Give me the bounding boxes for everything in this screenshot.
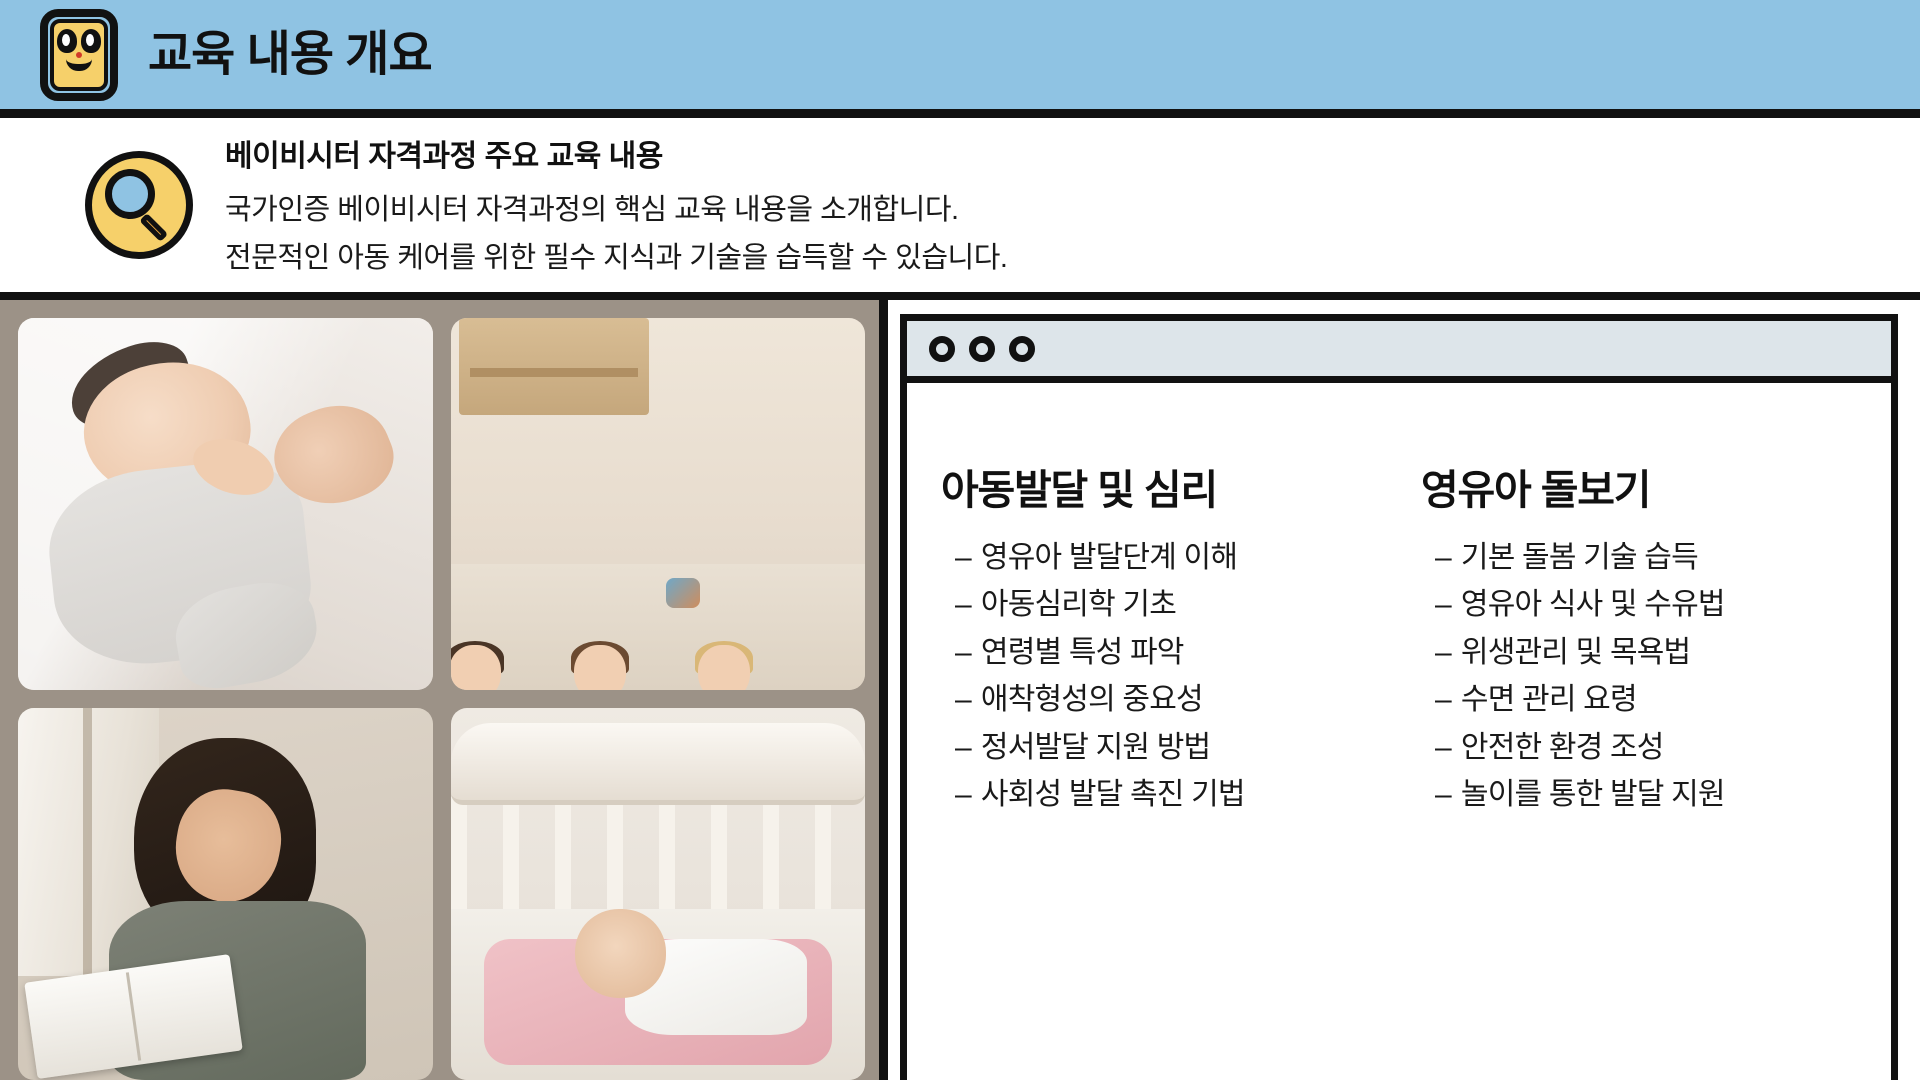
list-item-label: 사회성 발달 촉진 기법 bbox=[981, 771, 1245, 818]
list-item-label: 영유아 발달단계 이해 bbox=[981, 534, 1237, 581]
photo-toddlers-playing bbox=[451, 318, 866, 690]
bullet-dash-icon: – bbox=[1435, 629, 1451, 676]
bullet-dash-icon: – bbox=[1435, 724, 1451, 771]
bullet-dash-icon: – bbox=[1435, 581, 1451, 628]
bullet-dash-icon: – bbox=[1435, 771, 1451, 818]
window-dot-3-icon[interactable] bbox=[1009, 336, 1035, 362]
photo-baby-lying-down bbox=[18, 318, 433, 690]
list-item-label: 위생관리 및 목욕법 bbox=[1461, 629, 1690, 676]
photo-collage bbox=[0, 300, 888, 1080]
bullet-dash-icon: – bbox=[955, 581, 971, 628]
list-item-label: 수면 관리 요령 bbox=[1461, 676, 1637, 723]
list-item-label: 안전한 환경 조성 bbox=[1461, 724, 1664, 771]
body-area: 아동발달 및 심리 – 영유아 발달단계 이해 – 아동심리학 기초 bbox=[0, 300, 1920, 1080]
list-item: – 수면 관리 요령 bbox=[1421, 676, 1891, 723]
list-item: – 기본 돌봄 기술 습득 bbox=[1421, 534, 1891, 581]
list-item-label: 정서발달 지원 방법 bbox=[981, 724, 1210, 771]
page-title: 교육 내용 개요 bbox=[148, 31, 432, 79]
bullet-dash-icon: – bbox=[955, 629, 971, 676]
window-content: 아동발달 및 심리 – 영유아 발달단계 이해 – 아동심리학 기초 bbox=[907, 383, 1891, 1080]
list-item: – 정서발달 지원 방법 bbox=[941, 724, 1399, 771]
column-infant-care: 영유아 돌보기 – 기본 돌봄 기술 습득 – 영유아 식사 및 수유법 bbox=[1399, 469, 1891, 1080]
magnifier-icon bbox=[85, 151, 193, 259]
window-dot-1-icon[interactable] bbox=[929, 336, 955, 362]
intro-title: 베이비시터 자격과정 주요 교육 내용 bbox=[225, 131, 1007, 175]
content-card-wrapper: 아동발달 및 심리 – 영유아 발달단계 이해 – 아동심리학 기초 bbox=[888, 300, 1920, 1080]
list-item-label: 영유아 식사 및 수유법 bbox=[1461, 581, 1725, 628]
list-item: – 아동심리학 기초 bbox=[941, 581, 1399, 628]
window-titlebar bbox=[907, 321, 1891, 383]
baby-face-icon bbox=[40, 9, 118, 101]
bullet-dash-icon: – bbox=[955, 724, 971, 771]
bullet-dash-icon: – bbox=[955, 771, 971, 818]
photo-woman-reading-book bbox=[18, 708, 433, 1080]
list-item: – 안전한 환경 조성 bbox=[1421, 724, 1891, 771]
bullet-dash-icon: – bbox=[1435, 534, 1451, 581]
bullet-dash-icon: – bbox=[955, 534, 971, 581]
list-item: – 사회성 발달 촉진 기법 bbox=[941, 771, 1399, 818]
list-item-label: 아동심리학 기초 bbox=[981, 581, 1176, 628]
list-item-label: 연령별 특성 파악 bbox=[981, 629, 1184, 676]
list-item: – 놀이를 통한 발달 지원 bbox=[1421, 771, 1891, 818]
intro-line-2: 전문적인 아동 케어를 위한 필수 지식과 기술을 습득할 수 있습니다. bbox=[225, 237, 1007, 279]
list-infant-care: – 기본 돌봄 기술 습득 – 영유아 식사 및 수유법 – 위생관리 및 목욕… bbox=[1421, 534, 1891, 818]
list-item: – 위생관리 및 목욕법 bbox=[1421, 629, 1891, 676]
list-item-label: 애착형성의 중요성 bbox=[981, 676, 1203, 723]
bullet-dash-icon: – bbox=[955, 676, 971, 723]
slide-root: 교육 내용 개요 베이비시터 자격과정 주요 교육 내용 국가인증 베이비시터 … bbox=[0, 0, 1920, 1080]
list-item-label: 놀이를 통한 발달 지원 bbox=[1461, 771, 1725, 818]
list-child-development: – 영유아 발달단계 이해 – 아동심리학 기초 – 연령별 특성 파악 bbox=[941, 534, 1399, 818]
list-item: – 애착형성의 중요성 bbox=[941, 676, 1399, 723]
intro-line-1: 국가인증 베이비시터 자격과정의 핵심 교육 내용을 소개합니다. bbox=[225, 189, 1007, 231]
list-item: – 영유아 식사 및 수유법 bbox=[1421, 581, 1891, 628]
list-item-label: 기본 돌봄 기술 습득 bbox=[1461, 534, 1698, 581]
bullet-dash-icon: – bbox=[1435, 676, 1451, 723]
intro-section: 베이비시터 자격과정 주요 교육 내용 국가인증 베이비시터 자격과정의 핵심 … bbox=[0, 118, 1920, 300]
photo-baby-sleeping-in-crib bbox=[451, 708, 866, 1080]
column-title-infant-care: 영유아 돌보기 bbox=[1421, 469, 1891, 512]
list-item: – 연령별 특성 파악 bbox=[941, 629, 1399, 676]
column-title-child-development: 아동발달 및 심리 bbox=[941, 469, 1399, 512]
browser-window: 아동발달 및 심리 – 영유아 발달단계 이해 – 아동심리학 기초 bbox=[900, 314, 1898, 1080]
column-child-development: 아동발달 및 심리 – 영유아 발달단계 이해 – 아동심리학 기초 bbox=[907, 469, 1399, 1080]
intro-text-block: 베이비시터 자격과정 주요 교육 내용 국가인증 베이비시터 자격과정의 핵심 … bbox=[225, 131, 1007, 279]
list-item: – 영유아 발달단계 이해 bbox=[941, 534, 1399, 581]
window-dot-2-icon[interactable] bbox=[969, 336, 995, 362]
header-bar: 교육 내용 개요 bbox=[0, 0, 1920, 118]
